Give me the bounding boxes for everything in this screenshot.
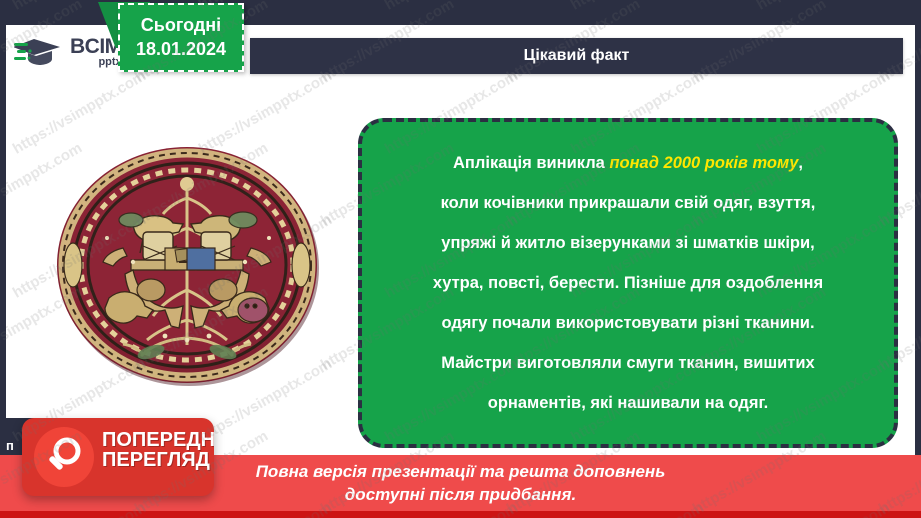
date-badge-value: 18.01.2024 [136,39,226,60]
applique-artwork [47,140,327,390]
page-title: Цікавий факт [524,47,630,65]
preview-badge-line1: ПОПЕРЕДНІЙ [102,430,210,450]
date-badge-label: Сьогодні [141,15,221,36]
date-badge: Сьогодні 18.01.2024 [118,3,244,72]
fact-line: орнаментів, які нашивали на одяг. [384,384,872,422]
magnifier-icon [34,427,94,487]
fact-highlight: понад 2000 років тому [609,154,798,172]
fact-text-pre: Аплікація виникла [453,154,609,172]
fact-line: Аплікація виникла понад 2000 років тому, [384,144,872,182]
slide-viewer: BCIM pptx [0,0,921,518]
purchase-notice-line2: доступні після придбання. [345,483,576,506]
preview-badge[interactable]: ПОПЕРЕДНІЙ ПЕРЕГЛЯД [22,418,214,496]
fact-line: Майстри виготовляли смуги тканин, вишити… [384,344,872,382]
slide-title-bar: Цікавий факт [250,38,903,74]
slide-canvas: BCIM pptx [6,25,915,455]
purchase-notice-line1: Повна версія презентації та решта доповн… [256,460,666,483]
app-footer-text: п [6,438,14,453]
fact-text-post: , [798,154,803,172]
fact-panel: Аплікація виникла понад 2000 років тому,… [358,118,898,448]
graduation-cap-icon [14,35,66,69]
fact-line: хутра, повсті, берести. Пізніше для оздо… [384,264,872,302]
fact-line: коли кочівники прикрашали свій одяг, взу… [384,184,872,222]
fact-line: упряжі й житло візерунками зі шматків шк… [384,224,872,262]
preview-badge-line2: ПЕРЕГЛЯД [102,450,210,470]
fact-line: одягу почали використовувати різні ткани… [384,304,872,342]
logo-sub: pptx [70,57,122,67]
